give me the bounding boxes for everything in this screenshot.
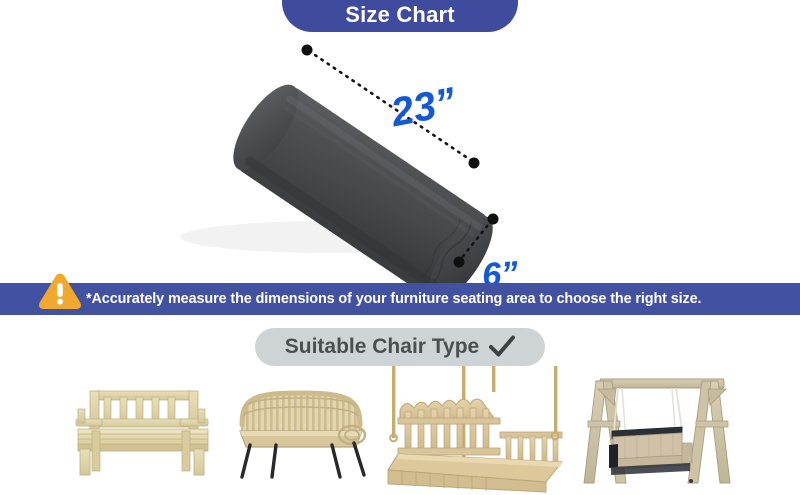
suitable-chair-type-title: Suitable Chair Type <box>285 336 480 359</box>
furniture-item-rattan-loveseat <box>228 379 378 481</box>
furniture-item-porch-swing-bed <box>386 366 571 493</box>
warning-triangle-icon <box>38 271 82 311</box>
measurement-warning-bar: *Accurately measure the dimensions of yo… <box>0 283 800 315</box>
suitable-furniture-list <box>0 366 800 495</box>
suitable-chair-type-pill: Suitable Chair Type <box>255 328 545 366</box>
product-image-area: 23” 6” <box>0 32 800 283</box>
size-chart-header-banner: Size Chart <box>282 0 518 32</box>
bolster-pillow-illustration <box>0 32 800 283</box>
furniture-item-garden-bench <box>62 379 222 479</box>
check-icon <box>489 335 515 359</box>
size-chart-page: Size Chart <box>0 0 800 495</box>
page-title: Size Chart <box>345 4 455 28</box>
warning-message: *Accurately measure the dimensions of yo… <box>86 283 701 315</box>
furniture-item-a-frame-swing <box>578 367 746 489</box>
